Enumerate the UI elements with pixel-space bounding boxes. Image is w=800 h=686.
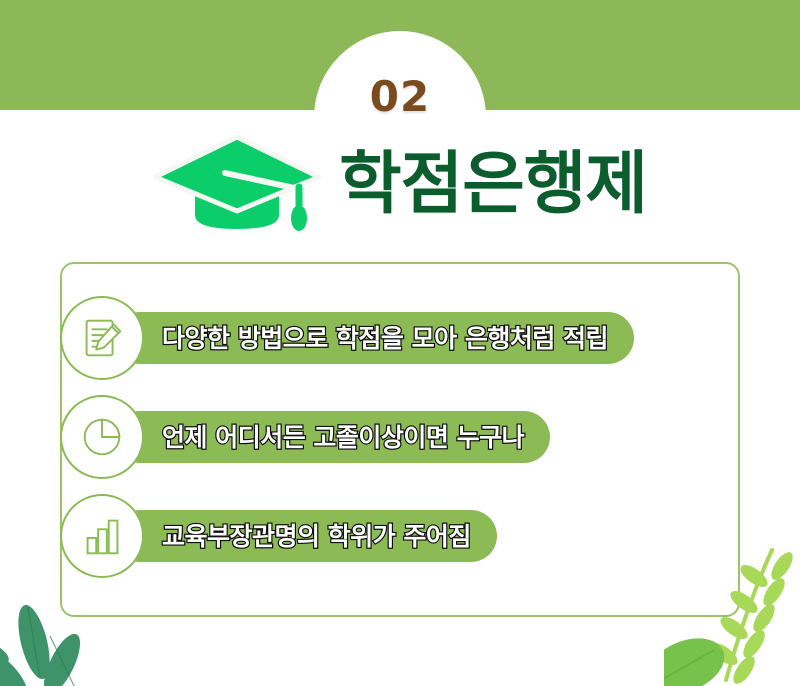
slide-root: 02 학점은행제 <box>0 0 800 686</box>
list-item: 다양한 방법으로 학점을 모아 은행처럼 적립 <box>60 296 634 380</box>
feature-text: 다양한 방법으로 학점을 모아 은행처럼 적립 <box>162 326 608 351</box>
feature-text: 교육부장관명의 학위가 주어짐 <box>162 524 471 549</box>
list-item: 교육부장관명의 학위가 주어짐 <box>60 494 497 578</box>
title-row: 학점은행제 <box>0 126 800 244</box>
feature-text: 언제 어디서든 고졸이상이면 누구나 <box>162 425 524 450</box>
feature-pill: 교육부장관명의 학위가 주어짐 <box>114 510 497 562</box>
feature-pill: 언제 어디서든 고졸이상이면 누구나 <box>114 411 550 463</box>
section-number: 02 <box>370 76 430 118</box>
document-pencil-icon <box>60 296 144 380</box>
pie-chart-icon <box>60 395 144 479</box>
page-title: 학점은행제 <box>339 151 647 219</box>
feature-list: 다양한 방법으로 학점을 모아 은행처럼 적립 언제 어디서든 고졸이상이면 누… <box>60 290 750 600</box>
graduation-cap-icon <box>153 129 323 241</box>
bar-chart-icon <box>60 494 144 578</box>
list-item: 언제 어디서든 고졸이상이면 누구나 <box>60 395 550 479</box>
feature-pill: 다양한 방법으로 학점을 모아 은행처럼 적립 <box>114 312 634 364</box>
